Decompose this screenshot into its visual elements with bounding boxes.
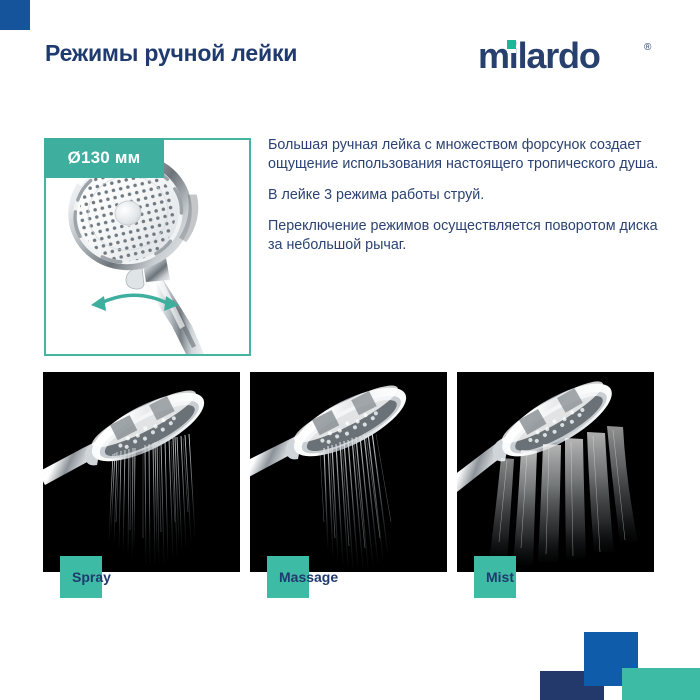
mode-label-spray: Spray: [72, 569, 111, 585]
diameter-badge: Ø130 мм: [44, 138, 164, 178]
description-paragraph-2: В лейке 3 режима работы струй.: [268, 186, 668, 205]
mode-panel-spray[interactable]: [43, 372, 240, 572]
mode-panel-massage[interactable]: [250, 372, 447, 572]
brand-logo-accent-square-icon: [507, 40, 516, 49]
massage-mode-illustration: [250, 372, 447, 572]
spray-mode-illustration: [43, 372, 240, 572]
description-paragraph-1: Большая ручная лейка с множеством форсун…: [268, 136, 668, 174]
registered-trademark-icon: ®: [644, 42, 651, 53]
mode-panels: [43, 372, 656, 572]
mode-label-mist: Mist: [486, 569, 514, 585]
mode-label-massage: Massage: [279, 569, 338, 585]
description-block: Большая ручная лейка с множеством форсун…: [268, 136, 668, 255]
brand-logo-text: milardo: [478, 35, 600, 76]
decor-square-teal: [622, 668, 700, 700]
brand-logo: milardo: [478, 38, 600, 74]
mode-panel-mist[interactable]: [457, 372, 654, 572]
header: Режимы ручной лейки milardo ®: [0, 0, 700, 110]
description-paragraph-3: Переключение режимов осуществляется пово…: [268, 217, 668, 255]
mist-mode-illustration: [457, 372, 654, 572]
brand-logo-i-mask: [507, 49, 516, 53]
page-title: Режимы ручной лейки: [45, 40, 297, 67]
rotation-arrow-icon: [91, 295, 179, 311]
